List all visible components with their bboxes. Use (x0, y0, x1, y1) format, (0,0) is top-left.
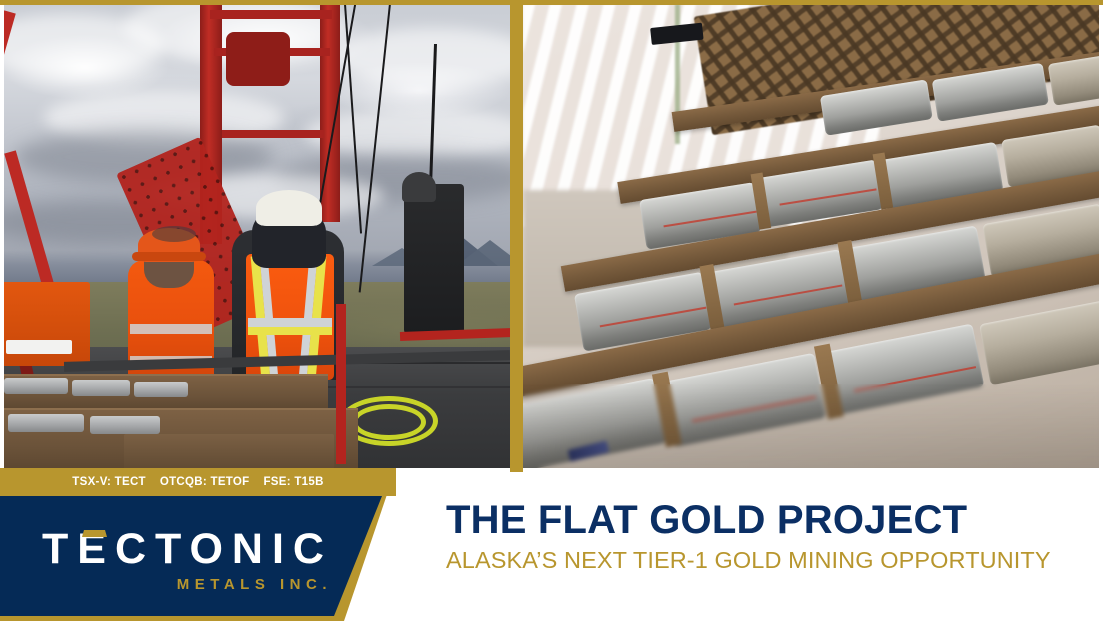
core-sample (1048, 55, 1099, 106)
logo-tagline: METALS INC. (44, 576, 332, 593)
core-sample (72, 380, 130, 396)
logo-gold-bar-icon (82, 530, 107, 537)
top-gold-rule (0, 0, 1103, 5)
core-sample (4, 378, 68, 394)
hard-hat-brim (132, 252, 206, 261)
worker-hard-hat (256, 190, 322, 226)
page-title: THE FLAT GOLD PROJECT (446, 498, 1051, 542)
photo-divider (510, 0, 523, 472)
drill-rig-photo (4, 4, 510, 468)
core-sample (8, 414, 84, 432)
page-subtitle: ALASKA’S NEXT TIER-1 GOLD MINING OPPORTU… (446, 546, 1051, 574)
coiled-hose (352, 404, 426, 440)
tectonic-logo[interactable]: TECTONIC METALS INC. (42, 526, 332, 598)
vest-stripe (248, 327, 332, 335)
rig-head (226, 32, 290, 86)
vest-stripe (130, 324, 212, 334)
worker-head-far (152, 226, 196, 242)
foreground-blur (523, 384, 1099, 468)
core-sample (134, 382, 188, 397)
core-box (124, 434, 334, 468)
rig-crossmember (210, 10, 332, 19)
presentation-slide: TSX-V: TECT OTCQB: TETOF FSE: T15B TECTO… (0, 0, 1103, 621)
drill-core-photo (523, 4, 1099, 468)
rig-post (336, 304, 346, 464)
equipment-label (6, 340, 72, 354)
photo-band (0, 0, 1103, 472)
ticker-symbols: TSX-V: TECT OTCQB: TETOF FSE: T15B (0, 468, 396, 496)
identity-band: TSX-V: TECT OTCQB: TETOF FSE: T15B TECTO… (0, 468, 1103, 621)
vest-stripe (248, 318, 332, 327)
headline-block: THE FLAT GOLD PROJECT ALASKA’S NEXT TIER… (446, 498, 1051, 574)
rig-crossmember (222, 130, 324, 138)
mountain-peak (456, 240, 510, 266)
rig-machinery (404, 184, 464, 334)
rig-hook (402, 172, 436, 202)
core-sample (90, 416, 160, 434)
